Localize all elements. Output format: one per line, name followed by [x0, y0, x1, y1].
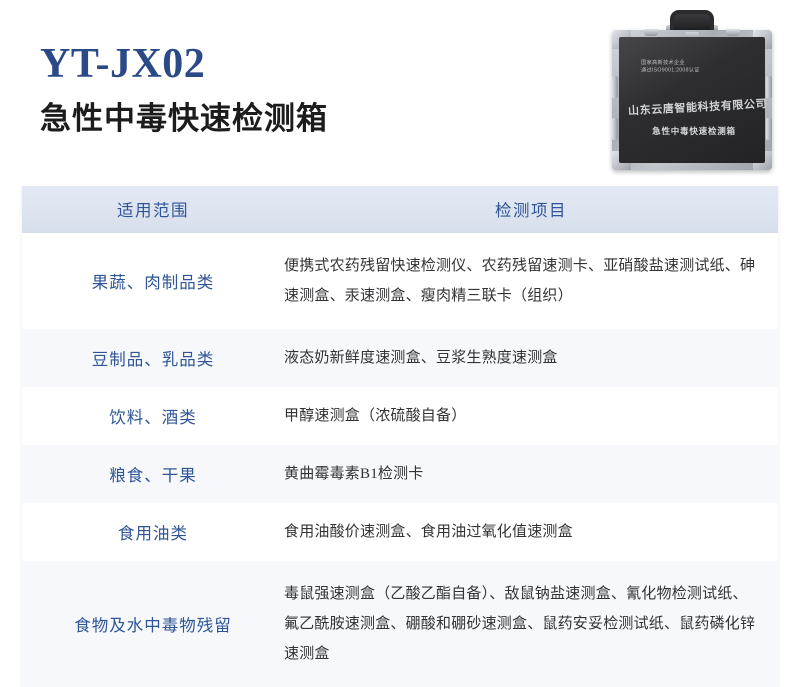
case-latch-right	[726, 29, 740, 36]
cell-items: 甲醇速测盒（浓硫酸自备）	[284, 387, 778, 445]
title-block: YT-JX02 急性中毒快速检测箱	[40, 42, 328, 136]
table-row: 食用油类 食用油酸价速测盒、食用油过氧化值速测盒	[22, 503, 778, 561]
case-side-tab-left-bottom	[612, 118, 618, 140]
table-row: 粮食、干果 黄曲霉毒素B1检测卡	[22, 445, 778, 503]
cell-items: 食用油酸价速测盒、食用油过氧化值速测盒	[284, 503, 778, 561]
case-company-name-text: 山东云唐智能科技有限公司	[628, 95, 768, 118]
table-row: 果蔬、肉制品类 便携式农药残留快速检测仪、农药残留速测卡、亚硝酸盐速测试纸、砷速…	[22, 233, 778, 329]
product-photo: 国家高新技术企业 通过ISO9001:2008认证 山东云唐智能科技有限公司 急…	[598, 8, 784, 176]
case-handle	[670, 10, 714, 30]
product-name-subtitle: 急性中毒快速检测箱	[40, 102, 328, 136]
case-latch-left	[644, 29, 658, 36]
column-header-items: 检测项目	[284, 186, 778, 233]
cell-items: 毒鼠强速测盒（乙酸乙酯自备）、敌鼠钠盐速测盒、氰化物检测试纸、氟乙酰胺速测盒、硼…	[284, 561, 778, 687]
case-side-tab-left-top	[612, 76, 618, 98]
case-side-tab-right-bottom	[766, 118, 772, 140]
product-model-title: YT-JX02	[40, 42, 328, 86]
specification-table: 适用范围 检测项目 果蔬、肉制品类 便携式农药残留快速检测仪、农药残留速测卡、亚…	[22, 186, 778, 687]
case-side-tab-right-top	[766, 76, 772, 98]
case-company-name: 山东云唐智能科技有限公司	[628, 96, 761, 119]
table-row: 豆制品、乳品类 液态奶新鲜度速测盒、豆浆生熟度速测盒	[22, 329, 778, 387]
table-header-row: 适用范围 检测项目	[22, 186, 778, 233]
table-header: 适用范围 检测项目	[22, 186, 778, 233]
case-product-label: 急性中毒快速检测箱	[628, 125, 760, 137]
cell-scope: 果蔬、肉制品类	[22, 233, 284, 329]
cell-items: 便携式农药残留快速检测仪、农药残留速测卡、亚硝酸盐速测试纸、砷速测盒、汞速测盒、…	[284, 233, 778, 329]
certification-line-1: 国家高新技术企业	[641, 59, 700, 67]
column-header-scope: 适用范围	[22, 186, 284, 233]
certification-line-2: 通过ISO9001:2008认证	[641, 67, 700, 75]
case-front-panel: 国家高新技术企业 通过ISO9001:2008认证 山东云唐智能科技有限公司 急…	[619, 37, 765, 163]
table-row: 饮料、酒类 甲醇速测盒（浓硫酸自备）	[22, 387, 778, 445]
page-header: YT-JX02 急性中毒快速检测箱 国家高新技术企业 通过ISO9001:200…	[0, 0, 800, 180]
cell-items: 液态奶新鲜度速测盒、豆浆生熟度速测盒	[284, 329, 778, 387]
cell-scope: 豆制品、乳品类	[22, 329, 284, 387]
cell-scope: 食用油类	[22, 503, 284, 561]
cell-items: 黄曲霉毒素B1检测卡	[284, 445, 778, 503]
cell-scope: 粮食、干果	[22, 445, 284, 503]
table-row: 食物及水中毒物残留 毒鼠强速测盒（乙酸乙酯自备）、敌鼠钠盐速测盒、氰化物检测试纸…	[22, 561, 778, 687]
cell-scope: 饮料、酒类	[22, 387, 284, 445]
cell-scope: 食物及水中毒物残留	[22, 561, 284, 687]
table-body: 果蔬、肉制品类 便携式农药残留快速检测仪、农药残留速测卡、亚硝酸盐速测试纸、砷速…	[22, 233, 778, 687]
case-certification-text: 国家高新技术企业 通过ISO9001:2008认证	[641, 59, 700, 74]
aluminum-case-body: 国家高新技术企业 通过ISO9001:2008认证 山东云唐智能科技有限公司 急…	[612, 30, 772, 170]
